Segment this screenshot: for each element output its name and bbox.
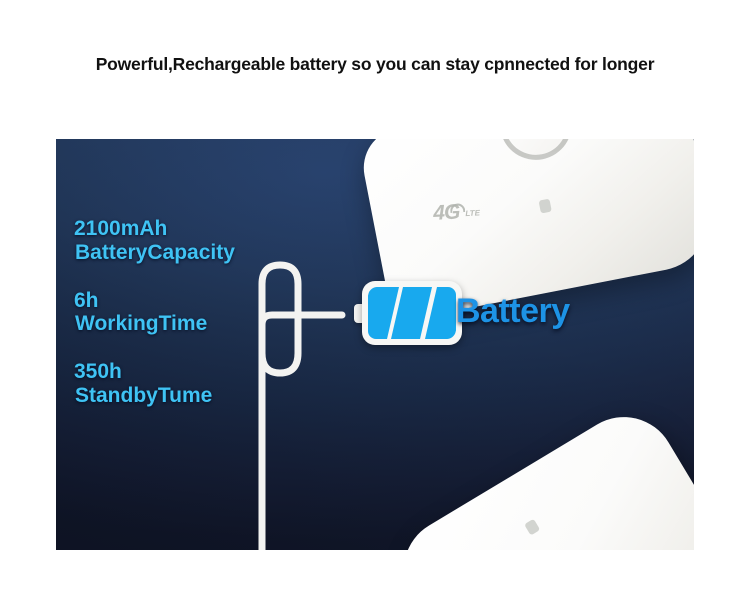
spec-label: WorkingTime: [74, 312, 235, 336]
power-button-icon: [494, 139, 578, 166]
status-led-icon: [524, 519, 540, 536]
lte-logo-text: LTE: [465, 208, 480, 218]
spec-item-battery-capacity: 2100mAh BatteryCapacity: [74, 217, 235, 265]
spec-label: StandbyTume: [74, 384, 235, 408]
spec-value: 2100mAh: [74, 217, 235, 241]
router-device-bottom: 4GLTE: [385, 398, 694, 550]
battery-icon: [354, 281, 462, 345]
spec-value: 6h: [74, 289, 235, 313]
spec-value: 350h: [74, 360, 235, 384]
spec-label: BatteryCapacity: [74, 241, 235, 265]
spec-list: 2100mAh BatteryCapacity 6h WorkingTime 3…: [74, 217, 235, 432]
page-title: Powerful,Rechargeable battery so you can…: [0, 54, 750, 75]
hero-image: 4GLTE 4GLTE Battery 2100mAh BatteryCapac…: [56, 139, 694, 550]
spec-item-working-time: 6h WorkingTime: [74, 289, 235, 337]
battery-shell: [362, 281, 462, 345]
wifi-arc-icon: [450, 203, 465, 213]
4g-lte-logo: 4GLTE: [433, 199, 481, 225]
battery-level-bars: [368, 287, 456, 339]
spec-item-standby-time: 350h StandbyTume: [74, 360, 235, 408]
status-led-icon: [539, 199, 552, 214]
battery-label: Battery: [456, 292, 570, 331]
